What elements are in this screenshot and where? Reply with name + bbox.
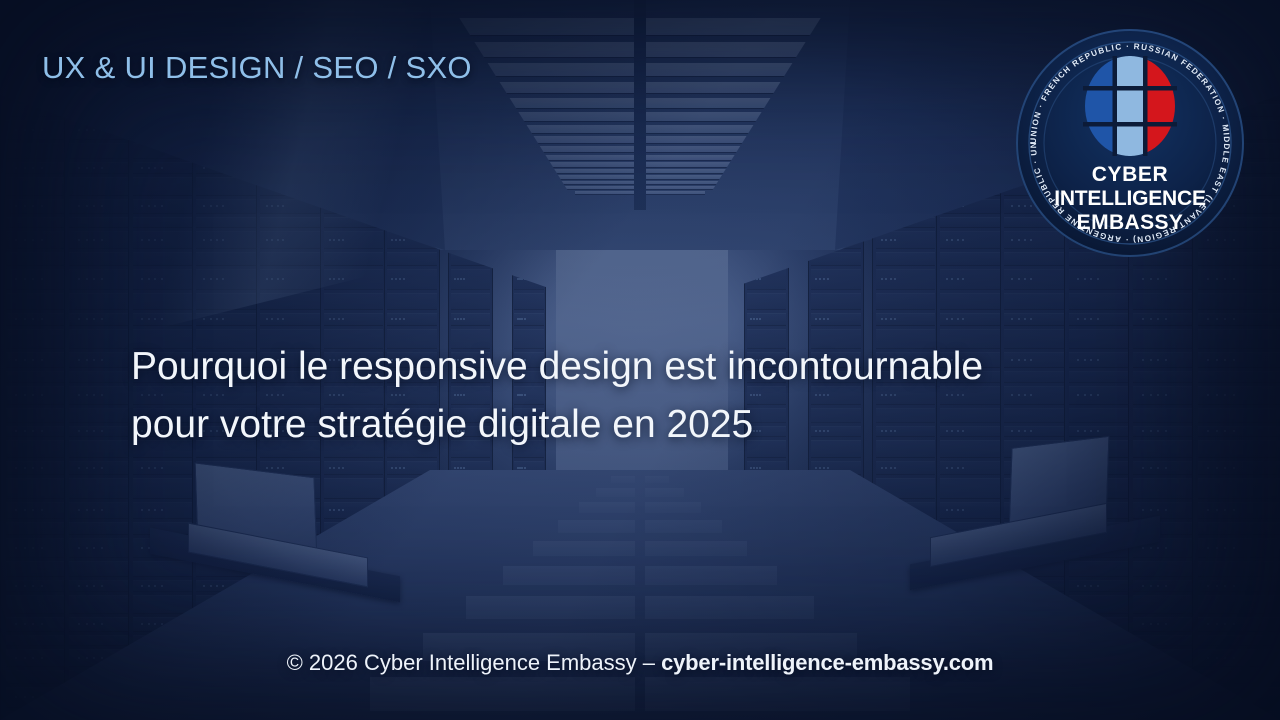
headline-line-2: pour votre stratégie digitale en 2025 <box>131 396 1091 454</box>
badge-title-line-1: CYBER <box>1092 163 1169 186</box>
banner-image: UX & UI DESIGN / SEO / SXO Pourquoi le r… <box>0 0 1280 720</box>
footer-domain-text: cyber-intelligence-embassy.com <box>661 650 993 675</box>
footer-credit: © 2026 Cyber Intelligence Embassy – cybe… <box>0 650 1280 676</box>
page-title: Pourquoi le responsive design est incont… <box>131 338 1091 453</box>
badge-title-line-2: INTELLIGENCE <box>1054 187 1206 210</box>
footer-copyright-text: © 2026 Cyber Intelligence Embassy – <box>287 650 662 675</box>
badge-title-line-3: EMBASSY <box>1077 211 1184 234</box>
category-kicker: UX & UI DESIGN / SEO / SXO <box>42 50 472 86</box>
headline-line-1: Pourquoi le responsive design est incont… <box>131 338 1091 396</box>
cyber-intelligence-embassy-logo[interactable]: UNITED STATES OF AMERICA · EUROPEAN UNIO… <box>1015 28 1245 258</box>
